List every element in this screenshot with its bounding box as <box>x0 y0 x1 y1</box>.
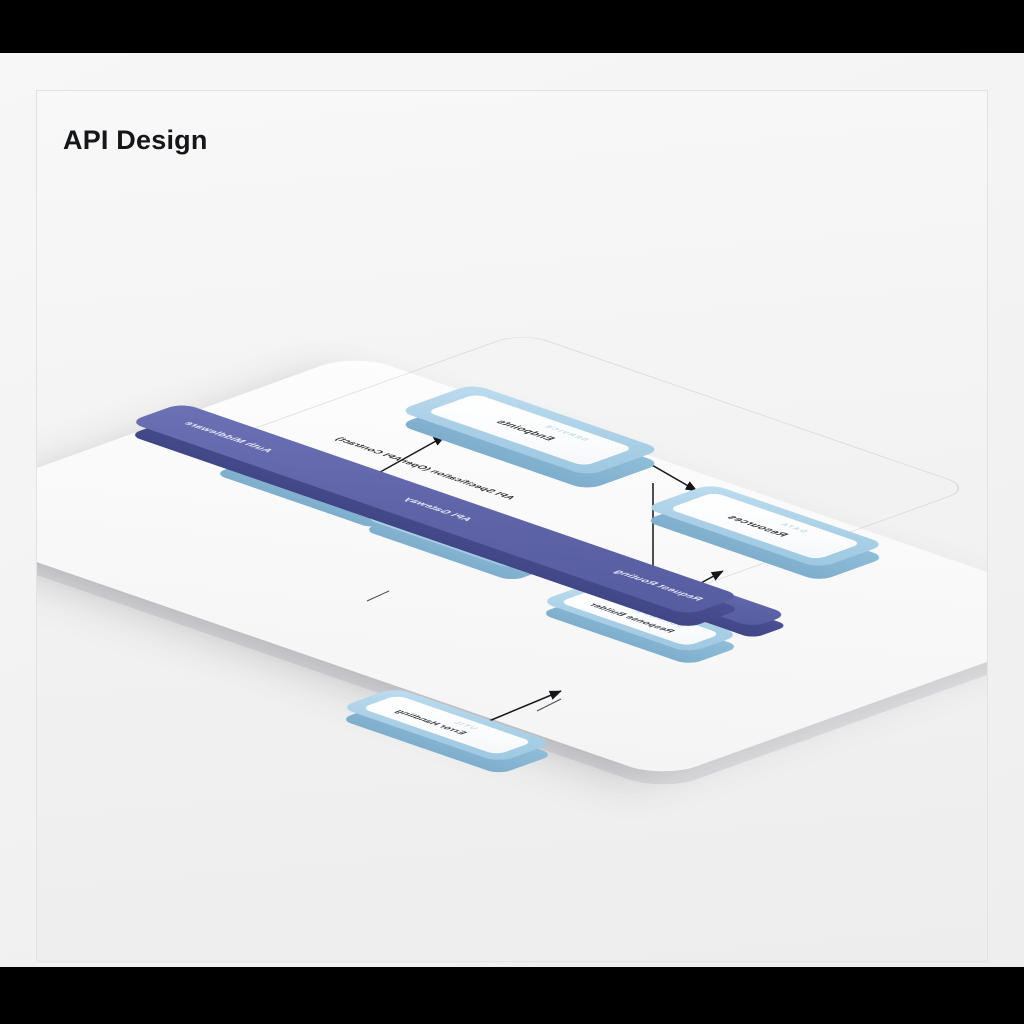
letterbox-bottom <box>0 967 1024 1024</box>
node-endpoints[interactable]: Endpoints SERVICE <box>435 391 625 469</box>
leader-line-routing <box>367 591 389 601</box>
node-label-secondary: API Gateway <box>400 497 474 523</box>
content-card: API Design <box>36 90 988 962</box>
isometric-diagram: API Specification (OpenAPI Contract) End… <box>37 91 988 962</box>
screenshot-stage: API Design <box>0 0 1024 1024</box>
page-surface: API Design <box>0 53 1024 967</box>
leader-line-gateway <box>537 699 561 711</box>
letterbox-top <box>0 0 1024 53</box>
node-error-handling[interactable]: Error Handling UTIL <box>367 696 527 754</box>
node-api-gateway-bar[interactable]: Auth Middleware API Gateway Request Rout… <box>155 481 715 537</box>
